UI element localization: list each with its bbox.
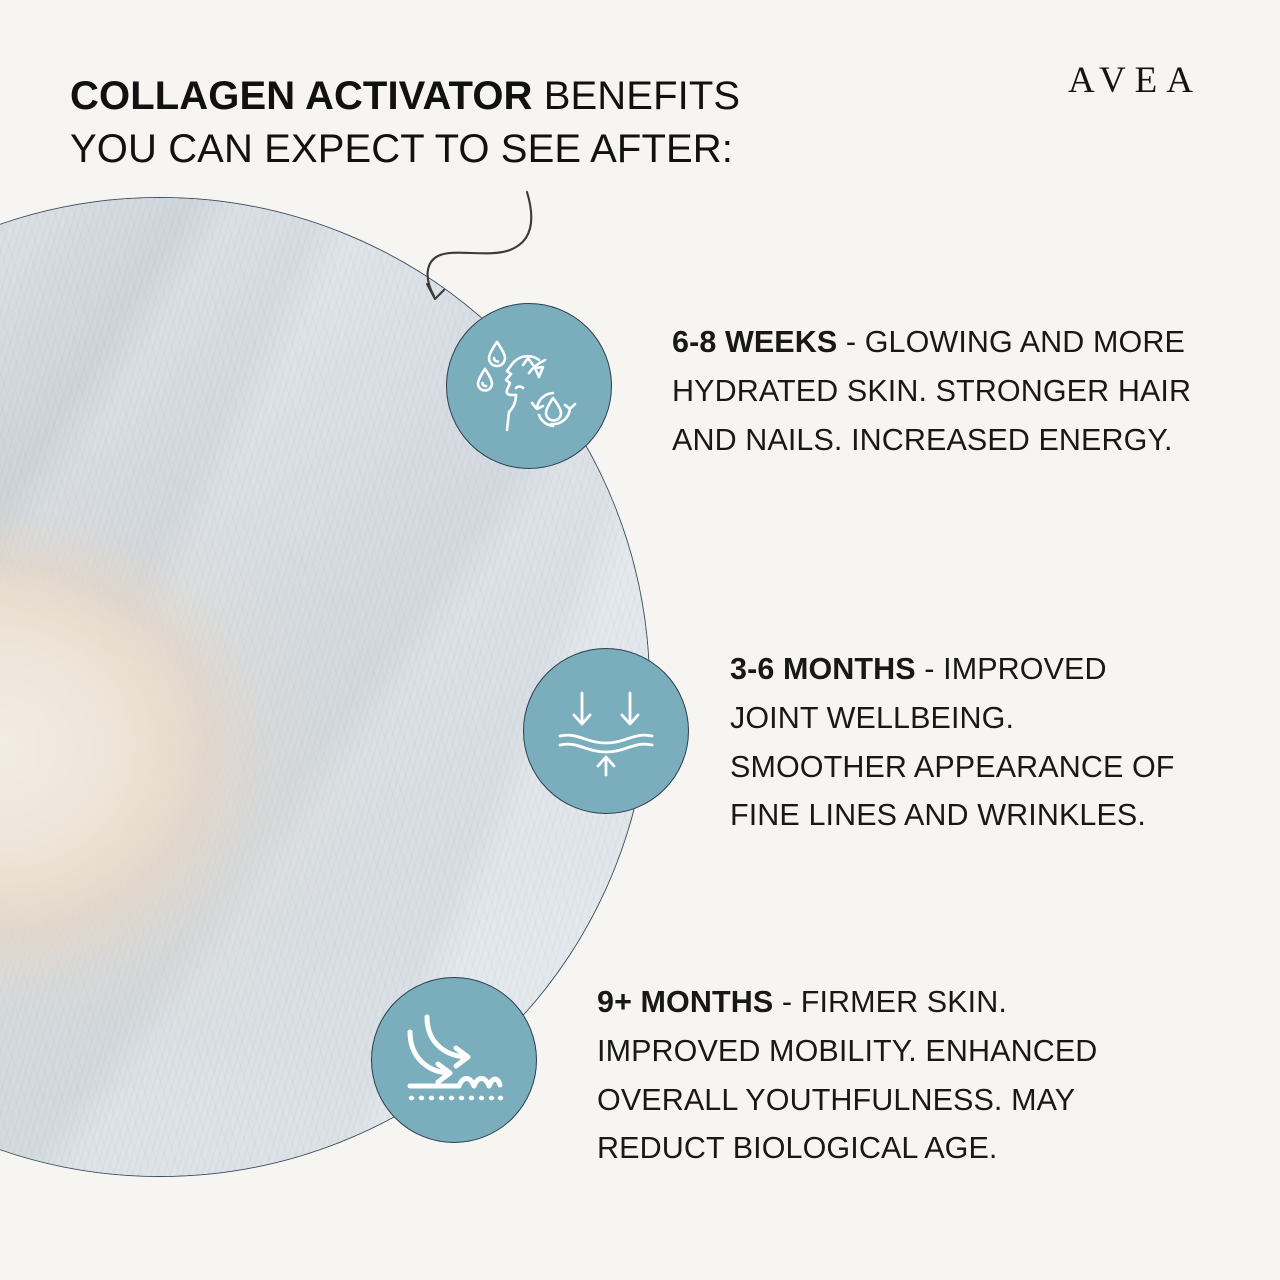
headline-benefits-word: BENEFITS [533,74,741,118]
benefit-3-term: 9+ MONTHS [597,985,773,1019]
page-title: COLLAGEN ACTIVATOR BENEFITS YOU CAN EXPE… [70,70,870,176]
headline-line-2: YOU CAN EXPECT TO SEE AFTER: [70,123,870,176]
benefit-3-line-1: 9+ MONTHS - FIRMER SKIN. [597,978,1097,1027]
brand-logo: AVEA [1068,62,1202,99]
benefit-2-separator: - [916,652,943,686]
benefit-3-desc-line-4: REDUCT BIOLOGICAL AGE. [597,1124,1097,1173]
benefit-1-separator: - [837,325,864,359]
benefit-text-1: 6-8 WEEKS - GLOWING AND MORE HYDRATED SK… [672,318,1191,464]
benefit-text-3: 9+ MONTHS - FIRMER SKIN. IMPROVED MOBILI… [597,978,1097,1173]
benefit-3-desc-line-3: OVERALL YOUTHFULNESS. MAY [597,1076,1097,1125]
benefit-3-desc-line-2: IMPROVED MOBILITY. ENHANCED [597,1027,1097,1076]
firming-skin-arrows-icon [401,1007,507,1113]
curved-pointer-arrow-icon [410,178,610,318]
benefit-2-line-1: 3-6 MONTHS - IMPROVED [730,645,1175,694]
infographic-page: COLLAGEN ACTIVATOR BENEFITS YOU CAN EXPE… [0,0,1280,1280]
benefit-1-desc-line-2: HYDRATED SKIN. STRONGER HAIR [672,367,1191,416]
benefit-icon-2 [523,648,689,814]
benefit-2-desc-line-3: SMOOTHER APPEARANCE OF [730,743,1175,792]
benefit-2-desc-line-4: FINE LINES AND WRINKLES. [730,791,1175,840]
benefit-1-term: 6-8 WEEKS [672,325,837,359]
benefit-1-desc-line-3: AND NAILS. INCREASED ENERGY. [672,416,1191,465]
benefit-text-2: 3-6 MONTHS - IMPROVED JOINT WELLBEING. S… [730,645,1175,840]
smoothing-waves-arrows-icon [554,679,658,783]
benefit-3-desc-line-1: FIRMER SKIN. [801,985,1007,1019]
benefit-2-term: 3-6 MONTHS [730,652,916,686]
hydration-face-droplets-icon [473,330,585,442]
benefit-1-line-1: 6-8 WEEKS - GLOWING AND MORE [672,318,1191,367]
benefit-2-desc-line-1: IMPROVED [943,652,1107,686]
benefit-2-desc-line-2: JOINT WELLBEING. [730,694,1175,743]
benefit-3-separator: - [773,985,800,1019]
headline-product-name: COLLAGEN ACTIVATOR [70,74,533,118]
benefit-icon-3 [371,977,537,1143]
benefit-1-desc-line-1: GLOWING AND MORE [865,325,1185,359]
headline-line-1: COLLAGEN ACTIVATOR BENEFITS [70,70,870,123]
benefit-icon-1 [446,303,612,469]
